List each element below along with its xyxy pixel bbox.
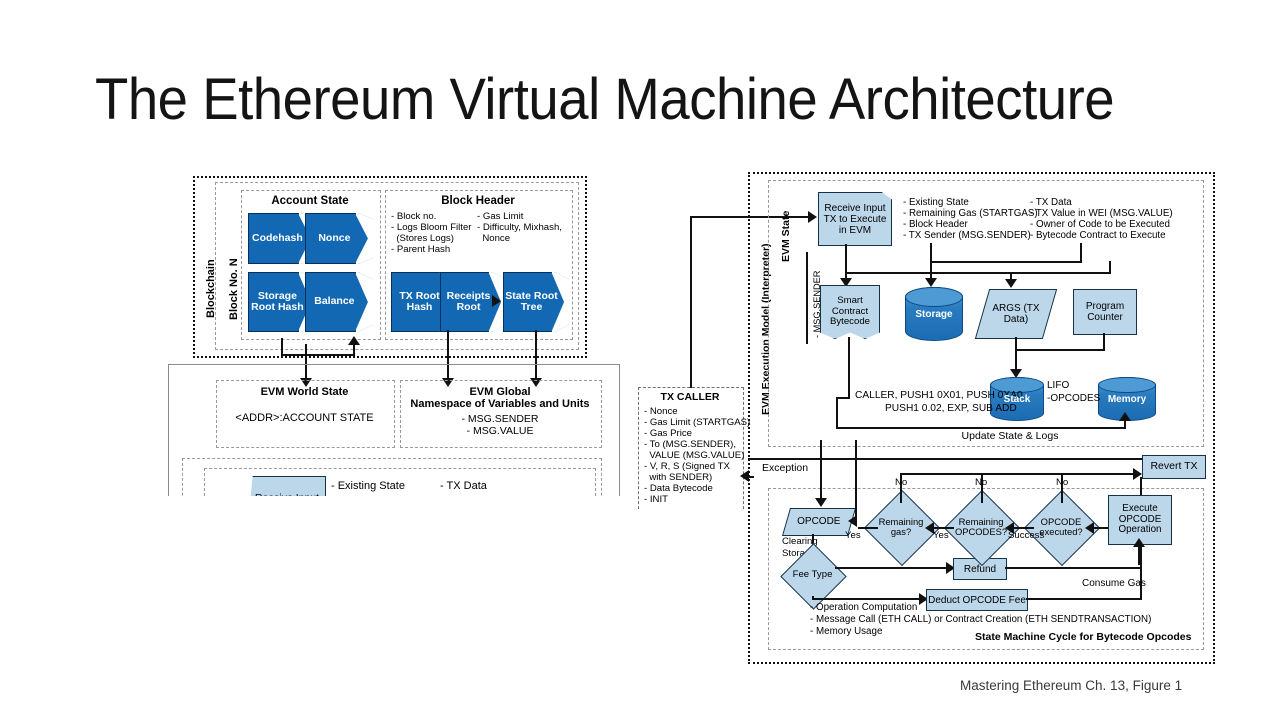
state-machine-cycle-title: State Machine Cycle for Bytecode Opcodes [975, 631, 1191, 643]
cell-state-root-tree-label: State Root Tree [504, 291, 568, 313]
program-counter-label: Program Counter [1074, 301, 1136, 323]
edge-yes-2: Yes [933, 530, 949, 541]
fee-type-label: Fee Type [790, 553, 835, 598]
storage-label: Storage [915, 309, 952, 320]
tx-caller-item-7: with SENDER) [644, 472, 712, 483]
stack-note-line-2: -OPCODES [1047, 393, 1100, 405]
conn-no-bus-to-revert [900, 473, 1136, 475]
execute-opcode-label: Execute OPCODE Operation [1109, 504, 1171, 536]
evm-world-state-body: <ADDR>:ACCOUNT STATE [216, 412, 393, 425]
conn-fee-to-refund [835, 567, 953, 569]
occluded-receive-input-label: Receive Input [255, 493, 319, 496]
program-counter-box: Program Counter [1073, 289, 1137, 335]
tx-caller-item-3: - Gas Price [644, 428, 692, 439]
conn-inputs-bridge [930, 261, 1082, 263]
evm-global-ns-title-2: Namespace of Variables and Units [400, 398, 600, 411]
conn-exception-bus [748, 458, 1150, 460]
edge-no-1: No [895, 477, 907, 488]
opcode-label: OPCODE [797, 516, 840, 527]
evm-input-left-3: - Block Header [903, 219, 968, 231]
conn-account-up [353, 344, 355, 356]
block-header-bullet-6: - Difficulty, Mixhash, [477, 222, 562, 233]
opcode-sample-line-1: CALLER, PUSH1 0X01, PUSH 0XA0, [855, 390, 1025, 402]
evm-world-state-title: EVM World State [216, 386, 393, 399]
smart-contract-bytecode-label: Smart Contract Bytecode [821, 296, 879, 328]
conn-exception-left-stub [748, 476, 754, 478]
arrow-into-storage [925, 278, 937, 287]
block-header-bullet-5: - Gas Limit [477, 211, 523, 222]
conn-account-right [281, 354, 355, 356]
revert-tx-label: Revert TX [1150, 461, 1197, 473]
conn-args-pc-bridge [1015, 349, 1105, 351]
account-state-title: Account State [241, 195, 379, 209]
block-header-title: Block Header [385, 195, 571, 209]
conn-into-opcode-2 [855, 440, 857, 520]
opcode-executed-diamond: OPCODE executed? [1035, 501, 1087, 553]
block-header-bullet-7: Nonce [477, 233, 510, 244]
arrow-into-execute-opcode [1133, 538, 1145, 547]
conn-inputs-right-down [1080, 243, 1082, 263]
remaining-gas-diamond: Remaining gas? [875, 501, 927, 553]
remaining-opcodes-label: Remaining OPCODES? [955, 501, 1007, 553]
figure-credit: Mastering Ethereum Ch. 13, Figure 1 [960, 678, 1182, 693]
fee-type-diamond: Fee Type [790, 553, 835, 598]
opcode-sample-line-2: PUSH1 0.02, EXP, SUB ADD [885, 403, 1017, 415]
evm-input-right-3: - Owner of Code to be Executed [1030, 219, 1170, 231]
evm-global-ns-item-1: - MSG.SENDER [400, 413, 600, 425]
fee-note-2: - Message Call (ETH CALL) or Contract Cr… [810, 614, 1151, 626]
conn-storage-down [930, 243, 932, 283]
smart-contract-bytecode-box: Smart Contract Bytecode [820, 285, 880, 339]
edge-yes-1: Yes [845, 530, 861, 541]
evm-input-right-1: - TX Data [1030, 197, 1072, 209]
arrow-account-up [348, 336, 360, 345]
arrow-into-args [1005, 279, 1017, 288]
fee-note-3: - Memory Usage [810, 626, 882, 638]
arrow-into-opcode-1 [815, 498, 827, 507]
conn-refund-right [1005, 567, 1142, 569]
evm-global-ns-item-2: - MSG.VALUE [400, 425, 600, 437]
tx-caller-item-4: - To (MSG.SENDER), [644, 439, 736, 450]
evm-input-left-1: - Existing State [903, 197, 969, 209]
edge-no-3: No [1056, 477, 1068, 488]
world-state-clip-region: EVM World State <ADDR>:ACCOUNT STATE EVM… [168, 364, 638, 496]
block-header-bullet-4: - Parent Hash [391, 244, 450, 255]
remaining-gas-label: Remaining gas? [875, 501, 927, 553]
evm-input-left-4: - TX Sender (MSG.SENDER) [903, 230, 1031, 242]
evm-input-right-2: - TX Value in WEI (MSG.VALUE) [1030, 208, 1173, 220]
conn-bytecode-down [848, 337, 850, 399]
evm-input-left-2: - Remaining Gas (STARTGAS) [903, 208, 1038, 220]
arrow-into-opcode-2 [848, 515, 857, 527]
occluded-item-existing-state: - Existing State [331, 480, 405, 493]
conn-msg-sender-edge [806, 252, 808, 344]
conn-deduct-right [1026, 598, 1142, 600]
deduct-opcode-fee-box: Deduct OPCODE Fee [926, 589, 1028, 611]
page-title: The Ethereum Virtual Machine Architectur… [95, 66, 1129, 133]
tx-caller-item-9: - INIT [644, 494, 668, 505]
tx-caller-item-2: - Gas Limit (STARTGAS) [644, 417, 750, 428]
block-header-bullet-2: - Logs Bloom Filter [391, 222, 472, 233]
slide-canvas: The Ethereum Virtual Machine Architectur… [0, 0, 1280, 720]
storage-cylinder: Storage [905, 287, 963, 341]
tx-caller-item-5: VALUE (MSG.VALUE) [644, 450, 744, 461]
evm-input-right-4: - Bytecode Contract to Execute [1030, 230, 1166, 242]
conn-execute-to-executed [1092, 527, 1108, 529]
exception-label: Exception [762, 462, 808, 474]
cell-nonce-label: Nonce [318, 233, 359, 244]
stack-note-line-1: LIFO [1047, 380, 1069, 392]
fee-note-1: - Operation Computation [810, 602, 917, 614]
receive-input-label: Receive Input TX to Execute in EVM [819, 203, 891, 236]
tx-caller-clip-region: TX CALLER - Nonce - Gas Limit (STARTGAS)… [630, 382, 750, 510]
edge-no-2: No [975, 477, 987, 488]
remaining-opcodes-diamond: Remaining OPCODES? [955, 501, 1007, 553]
receive-input-box: Receive Input TX to Execute in EVM [818, 192, 892, 246]
tx-caller-item-1: - Nonce [644, 406, 678, 417]
cell-state-root-tree: State Root Tree [503, 272, 569, 332]
conn-top-bus [845, 272, 1111, 274]
deduct-opcode-fee-label: Deduct OPCODE Fee [928, 595, 1026, 606]
conn-top-bus-right [1109, 261, 1111, 274]
stack-label: Stack [1004, 394, 1031, 405]
cell-balance: Balance [305, 272, 373, 332]
update-state-logs-label: Update State & Logs [860, 430, 1160, 442]
conn-pc-down [1103, 333, 1105, 351]
occluded-receive-input-box: Receive Input [248, 476, 326, 496]
conn-into-opcode-1 [820, 440, 822, 500]
consume-gas-label: Consume Gas [1082, 578, 1146, 590]
cell-balance-label: Balance [314, 296, 364, 307]
conn-txcaller-up [690, 216, 692, 388]
args-parallelogram: ARGS (TX Data) [975, 289, 1057, 339]
cell-nonce: Nonce [305, 213, 373, 264]
tx-caller-item-6: - V, R, S (Signed TX [644, 461, 730, 472]
occluded-item-tx-data: - TX Data [440, 480, 487, 493]
revert-tx-box: Revert TX [1142, 455, 1206, 479]
arrow-receipts-to-state [492, 295, 501, 307]
cell-codehash-label: Codehash [252, 233, 312, 244]
tx-caller-item-8: - Data Bytecode [644, 483, 713, 494]
memory-label: Memory [1108, 394, 1146, 405]
block-n-label: Block No. N [228, 258, 240, 320]
arrow-into-memory [1119, 412, 1131, 421]
block-header-bullet-1: - Block no. [391, 211, 436, 222]
tx-caller-title: TX CALLER [638, 391, 742, 403]
conn-bytecode-bus-down [836, 397, 838, 429]
evm-state-label: EVM State [780, 211, 792, 262]
args-label: ARGS (TX Data) [983, 303, 1049, 325]
conn-fee-to-deduct [812, 598, 925, 600]
opcode-executed-label: OPCODE executed? [1035, 501, 1087, 553]
block-header-bullet-3: (Stores Logs) [391, 233, 454, 244]
conn-receive-down [845, 244, 847, 282]
